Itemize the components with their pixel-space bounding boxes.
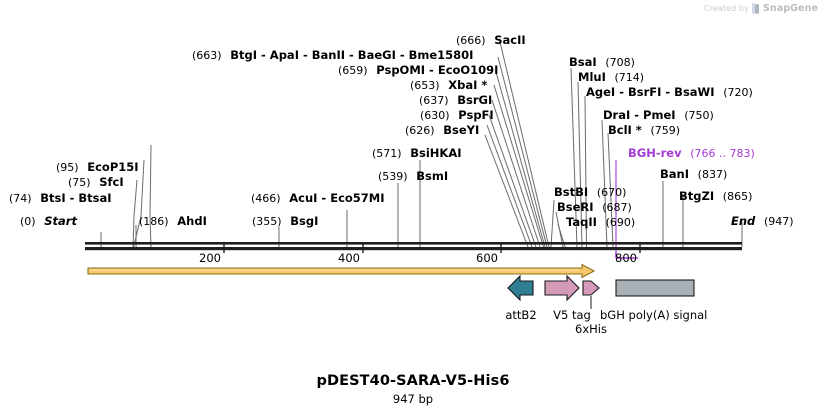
enzyme-name: BsgI: [290, 214, 318, 228]
feature-v5-tag: [545, 276, 579, 300]
enzyme-pos: (95): [56, 161, 79, 174]
enzyme-pos: (690): [606, 216, 636, 229]
enzyme-pos: (687): [602, 201, 632, 214]
feature-bgh-polya-signal: [616, 280, 694, 296]
enzyme-name: AhdI: [177, 214, 207, 228]
enzyme-label-720[interactable]: AgeI - BsrFI - BsaWI (720): [586, 86, 753, 99]
enzyme-pos: (466): [251, 192, 281, 205]
enzyme-label-865[interactable]: BtgZI (865): [679, 190, 752, 203]
start-name: Start: [44, 214, 77, 228]
enzyme-label-759[interactable]: BclI * (759): [608, 124, 680, 137]
enzyme-label-687[interactable]: BseRI (687): [557, 201, 632, 214]
enzyme-pos: (666): [456, 34, 486, 47]
enzyme-pos: (630): [420, 109, 450, 122]
enzyme-pos: (714): [615, 71, 645, 84]
enzyme-label-75[interactable]: (75) SfcI: [68, 176, 124, 189]
enzyme-name: SfcI: [99, 175, 123, 189]
enzyme-name: PspOMI - EcoO109I: [376, 63, 498, 77]
start-pos: (0): [20, 215, 36, 228]
orf-arrow: [88, 265, 594, 278]
enzyme-label-630[interactable]: (630) PspFI: [420, 109, 494, 122]
enzyme-name: EcoP15I: [87, 160, 138, 174]
enzyme-label-626[interactable]: (626) BseYI: [405, 124, 479, 137]
enzyme-pos: (571): [372, 147, 402, 160]
enzyme-name: DraI - PmeI: [603, 108, 676, 122]
enzyme-name: BsaI: [569, 55, 597, 69]
feature-label-6xhis[interactable]: 6xHis: [536, 322, 646, 336]
enzyme-label-571[interactable]: (571) BsiHKAI: [372, 147, 462, 160]
page-subtitle: 947 bp: [0, 392, 826, 406]
end-pos: (947): [764, 215, 794, 228]
enzyme-name: BsiHKAI: [410, 146, 461, 160]
ruler-tick-800: 800: [615, 251, 637, 265]
enzyme-label-95[interactable]: (95) EcoP15I: [56, 161, 139, 174]
enzyme-pos: (663): [192, 49, 222, 62]
enzyme-pos: (865): [723, 190, 753, 203]
bgh-rev-primer-label[interactable]: BGH-rev (766 .. 783): [628, 147, 755, 160]
enzyme-label-708[interactable]: BsaI (708): [569, 56, 635, 69]
enzyme-name: BtgZI: [679, 189, 714, 203]
enzyme-label-750[interactable]: DraI - PmeI (750): [603, 109, 714, 122]
enzyme-label-466[interactable]: (466) AcuI - Eco57MI: [251, 192, 385, 205]
enzyme-label-666[interactable]: (666) SacII: [456, 34, 526, 47]
enzyme-name: BstBI: [554, 185, 588, 199]
feature-attb2: [508, 276, 533, 300]
start-label[interactable]: (0) Start: [20, 215, 77, 228]
enzyme-name: SacII: [494, 33, 525, 47]
enzyme-pos: (708): [605, 56, 635, 69]
enzyme-name: MluI: [578, 70, 606, 84]
enzyme-pos: (653): [410, 79, 440, 92]
enzyme-pos: (539): [378, 170, 408, 183]
enzyme-pos: (720): [723, 86, 753, 99]
end-name: End: [731, 214, 755, 228]
enzyme-label-659[interactable]: (659) PspOMI - EcoO109I: [338, 64, 498, 77]
enzyme-label-663[interactable]: (663) BtgI - ApaI - BanII - BaeGI - Bme1…: [192, 49, 473, 62]
ruler-tick-600: 600: [476, 251, 498, 265]
enzyme-name: BseRI: [557, 200, 594, 214]
enzyme-label-653[interactable]: (653) XbaI *: [410, 79, 487, 92]
enzyme-name: BseYI: [443, 123, 479, 137]
enzyme-name: TaqII: [566, 215, 597, 229]
enzyme-name: BsrGI: [457, 93, 492, 107]
enzyme-pos: (637): [419, 94, 449, 107]
enzyme-pos: (670): [597, 186, 627, 199]
enzyme-label-690[interactable]: TaqII (690): [566, 216, 635, 229]
enzyme-label-637[interactable]: (637) BsrGI: [419, 94, 492, 107]
enzyme-pos: (659): [338, 64, 368, 77]
enzyme-label-539[interactable]: (539) BsmI: [378, 170, 448, 183]
enzyme-label-186[interactable]: (186) AhdI: [139, 215, 207, 228]
enzyme-pos: (759): [650, 124, 680, 137]
sequence-axis: [85, 242, 742, 250]
end-label[interactable]: End (947): [731, 215, 794, 228]
plasmid-linear-map: Created by SnapGene: [0, 0, 826, 412]
enzyme-label-837[interactable]: BanI (837): [660, 168, 727, 181]
enzyme-name: PspFI: [458, 108, 493, 122]
enzyme-pos: (355): [252, 215, 282, 228]
enzyme-pos: (837): [698, 168, 728, 181]
ruler-tick-400: 400: [338, 251, 360, 265]
feature-label-bgh-polya-signal[interactable]: bGH poly(A) signal: [600, 308, 740, 322]
enzyme-pos: (750): [684, 109, 714, 122]
feature-6xhis: [583, 281, 599, 309]
enzyme-pos: (74): [9, 192, 32, 205]
enzyme-label-74[interactable]: (74) BtsI - BtsaI: [9, 192, 112, 205]
enzyme-pos: (186): [139, 215, 169, 228]
enzyme-pos: (75): [68, 176, 91, 189]
page-title: pDEST40-SARA-V5-His6: [0, 373, 826, 389]
enzyme-name: AcuI - Eco57MI: [289, 191, 384, 205]
ruler-tick-200: 200: [199, 251, 221, 265]
enzyme-name: AgeI - BsrFI - BsaWI: [586, 85, 715, 99]
enzyme-label-355[interactable]: (355) BsgI: [252, 215, 318, 228]
enzyme-pos: (626): [405, 124, 435, 137]
enzyme-name: BsmI: [416, 169, 448, 183]
enzyme-label-714[interactable]: MluI (714): [578, 71, 644, 84]
enzyme-name: BtsI - BtsaI: [40, 191, 111, 205]
enzyme-name: BanI: [660, 167, 689, 181]
enzyme-label-670[interactable]: BstBI (670): [554, 186, 626, 199]
enzyme-name: XbaI *: [448, 78, 487, 92]
enzyme-name: BtgI - ApaI - BanII - BaeGI - Bme1580I: [230, 48, 473, 62]
enzyme-name: BclI *: [608, 123, 642, 137]
primer-range: (766 .. 783): [690, 147, 755, 160]
primer-name: BGH-rev: [628, 146, 682, 160]
